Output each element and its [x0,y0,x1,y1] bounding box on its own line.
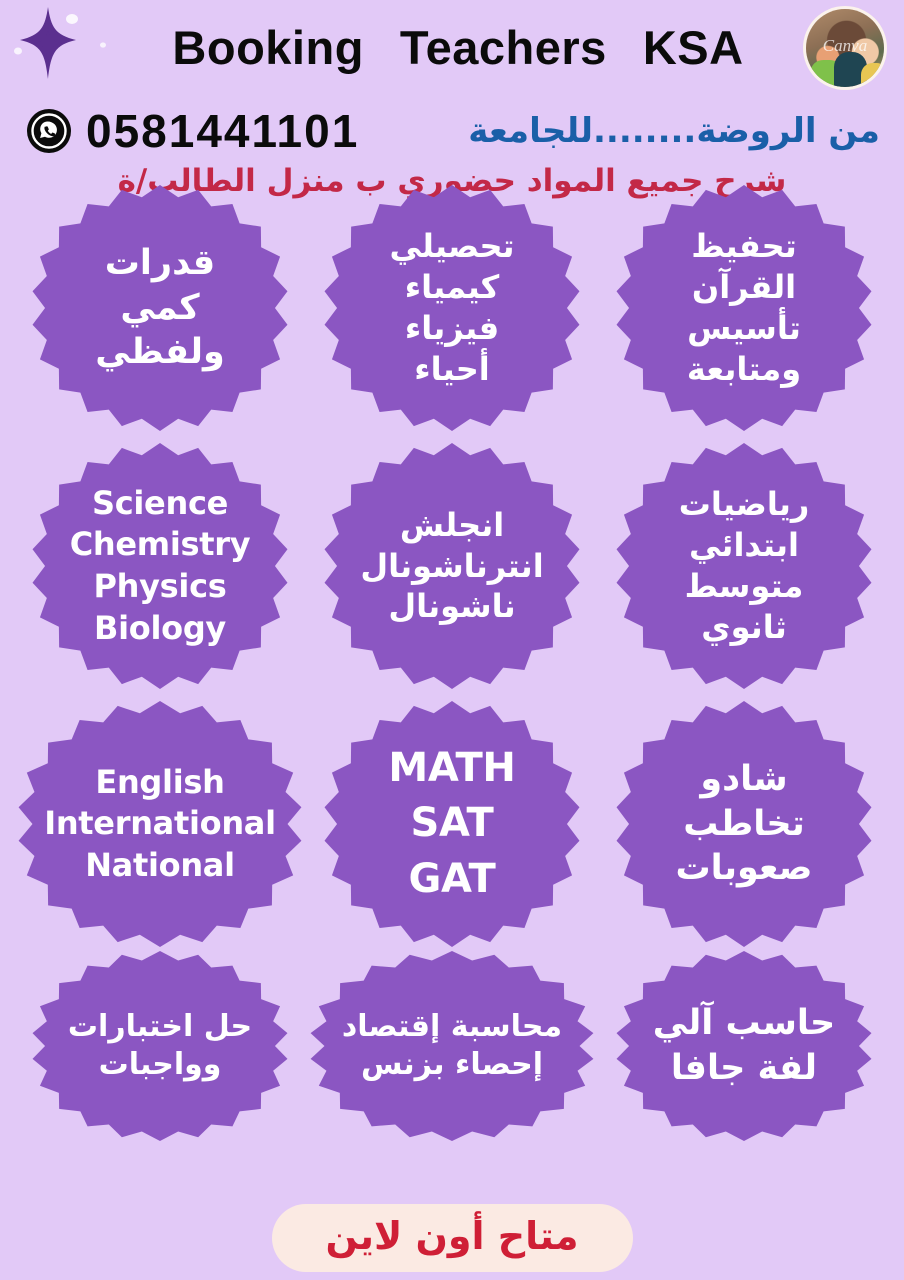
badge-line: محاسبة إقتصاد [322,1008,582,1046]
badge-line: حل اختبارات [44,1008,276,1046]
badge-line: English [30,762,290,804]
badge-exams-homework[interactable]: حل اختبارات وواجبات [32,951,288,1141]
phone-number[interactable]: 0581441101 [86,104,359,158]
badge-line: صعوبات [628,846,860,891]
badge-line: متوسط [628,566,860,607]
badge-line: انجلش [336,505,568,546]
badge-cell: تحصيلي كيمياء فيزياء أحياء [306,179,598,437]
badge-cell: شادو تخاطب صعوبات [598,695,890,953]
badge-science-en[interactable]: Science Chemistry Physics Biology [32,443,288,689]
badge-cell: محاسبة إقتصاد إحصاء بزنس [306,953,598,1139]
badge-line: فيزياء [336,308,568,349]
title-row: Booking Teachers KSA Canva [0,0,904,95]
badge-line: حاسب آلي [628,1001,860,1046]
badge-line: إحصاء بزنس [322,1046,582,1084]
badge-line: Chemistry [44,524,276,566]
badge-cell: تحفيظ القرآن تأسيس ومتابعة [598,179,890,437]
badge-cell: رياضيات ابتدائي متوسط ثانوي [598,437,890,695]
badge-line: كمي [44,286,276,331]
title-word-teachers: Teachers [400,20,607,75]
badge-cell: Science Chemistry Physics Biology [14,437,306,695]
badge-cell: MATH SAT GAT [306,695,598,953]
badge-line: لفة جافا [628,1046,860,1091]
badge-shadow-speech[interactable]: شادو تخاطب صعوبات [616,701,872,947]
title-word-ksa: KSA [643,20,744,75]
badge-line: ابتدائي [628,525,860,566]
badge-cell: قدرات كمي ولفظي [14,179,306,437]
badge-line: International [30,803,290,845]
badge-line: رياضيات [628,484,860,525]
badge-qudurat[interactable]: قدرات كمي ولفظي [32,185,288,431]
badge-tahsili[interactable]: تحصيلي كيمياء فيزياء أحياء [324,185,580,431]
badge-line: ومتابعة [628,349,860,390]
badge-cell: انجلش انترناشونال ناشونال [306,437,598,695]
badge-line: National [30,845,290,887]
whatsapp-icon[interactable] [26,108,72,154]
badge-line: ولفظي [44,330,276,375]
badge-line: تأسيس [628,308,860,349]
sparkle-star-icon [14,5,110,91]
badge-english-en[interactable]: English International National [18,701,302,947]
badge-accounting-economics[interactable]: محاسبة إقتصاد إحصاء بزنس [310,951,594,1141]
badge-computer-java[interactable]: حاسب آلي لفة جافا [616,951,872,1141]
badge-quran[interactable]: تحفيظ القرآن تأسيس ومتابعة [616,185,872,431]
avatar-child-right [861,63,884,86]
avatar-watermark: Canva [823,36,867,56]
badge-line: وواجبات [44,1046,276,1084]
badge-line: GAT [336,852,568,907]
badge-line: انترناشونال [336,546,568,587]
badge-line: Science [44,483,276,525]
badge-line: تحصيلي [336,226,568,267]
avatar: Canva [806,9,884,87]
badge-cell: حل اختبارات وواجبات [14,953,306,1139]
online-availability-badge[interactable]: متاح أون لاين [272,1204,633,1272]
badge-line: Biology [44,608,276,650]
badge-grid: قدرات كمي ولفظي تحصيلي كيمياء فيزياء أحي… [0,175,904,1139]
contact-row: 0581441101 من الروضة........للجامعة [0,95,904,167]
badge-line: ناشونال [336,586,568,627]
phone-block[interactable]: 0581441101 [26,104,359,158]
badge-cell: English International National [14,695,306,953]
badge-line: تحفيظ [628,226,860,267]
badge-line: Physics [44,566,276,608]
badge-line: MATH [336,741,568,796]
page-header: Booking Teachers KSA Canva 0581441101 [0,0,904,175]
page-title: Booking Teachers KSA [110,20,806,75]
badge-line: ثانوي [628,607,860,648]
badge-math-ar[interactable]: رياضيات ابتدائي متوسط ثانوي [616,443,872,689]
badge-line: كيمياء [336,267,568,308]
badge-line: القرآن [628,267,860,308]
footer: متاح أون لاين [0,1204,904,1272]
badge-line: تخاطب [628,802,860,847]
title-word-booking: Booking [172,20,363,75]
badge-cell: حاسب آلي لفة جافا [598,953,890,1139]
badge-math-sat-gat[interactable]: MATH SAT GAT [324,701,580,947]
badge-line: أحياء [336,349,568,390]
badge-line: SAT [336,796,568,851]
badge-line: شادو [628,757,860,802]
badge-english-ar[interactable]: انجلش انترناشونال ناشونال [324,443,580,689]
tagline: من الروضة........للجامعة [359,111,886,151]
badge-line: قدرات [44,241,276,286]
